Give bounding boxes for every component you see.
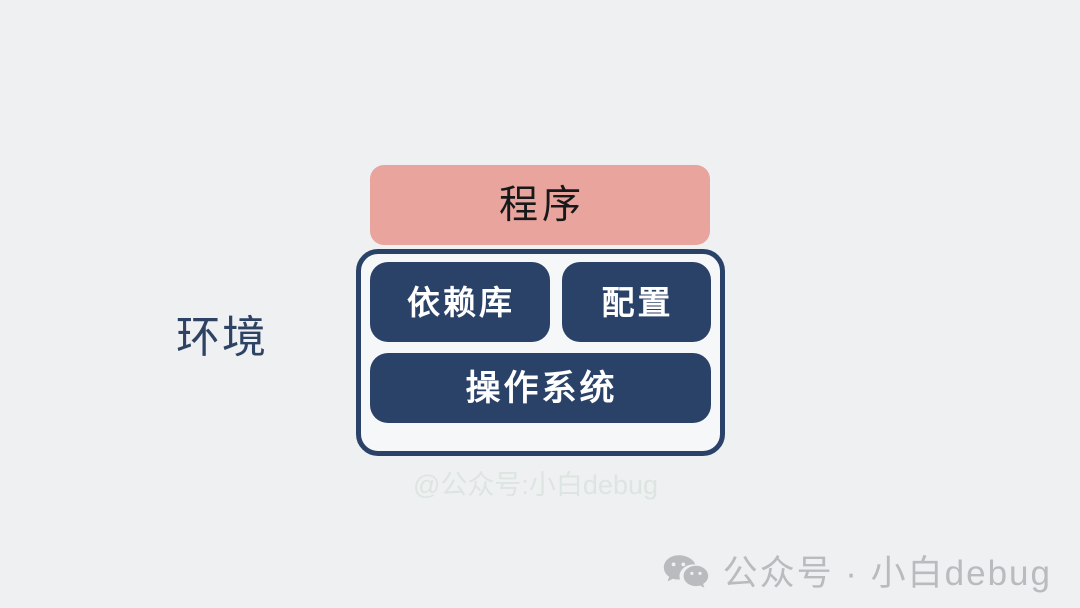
environment-row-top: 依赖库 配置 <box>370 262 711 342</box>
program-box-label: 程序 <box>499 186 585 225</box>
environment-row-bottom: 操作系统 <box>370 353 711 423</box>
configuration-box: 配置 <box>562 262 711 342</box>
dependency-library-box: 依赖库 <box>370 262 550 342</box>
brand-footer: 公众号 · 小白debug <box>663 554 1052 592</box>
slide-canvas: 环境 程序 依赖库 配置 操作系统 @公众号:小白debug <box>0 0 1080 608</box>
dependency-library-label: 依赖库 <box>407 286 515 319</box>
inline-watermark: @公众号:小白debug <box>413 472 658 499</box>
operating-system-box: 操作系统 <box>370 353 711 423</box>
program-box: 程序 <box>370 165 710 245</box>
brand-text: 公众号 · 小白debug <box>723 556 1052 591</box>
environment-side-label: 环境 <box>176 316 268 360</box>
configuration-label: 配置 <box>602 286 674 319</box>
wechat-icon <box>663 554 709 592</box>
operating-system-label: 操作系统 <box>465 371 617 406</box>
environment-container: 依赖库 配置 操作系统 <box>356 249 725 456</box>
